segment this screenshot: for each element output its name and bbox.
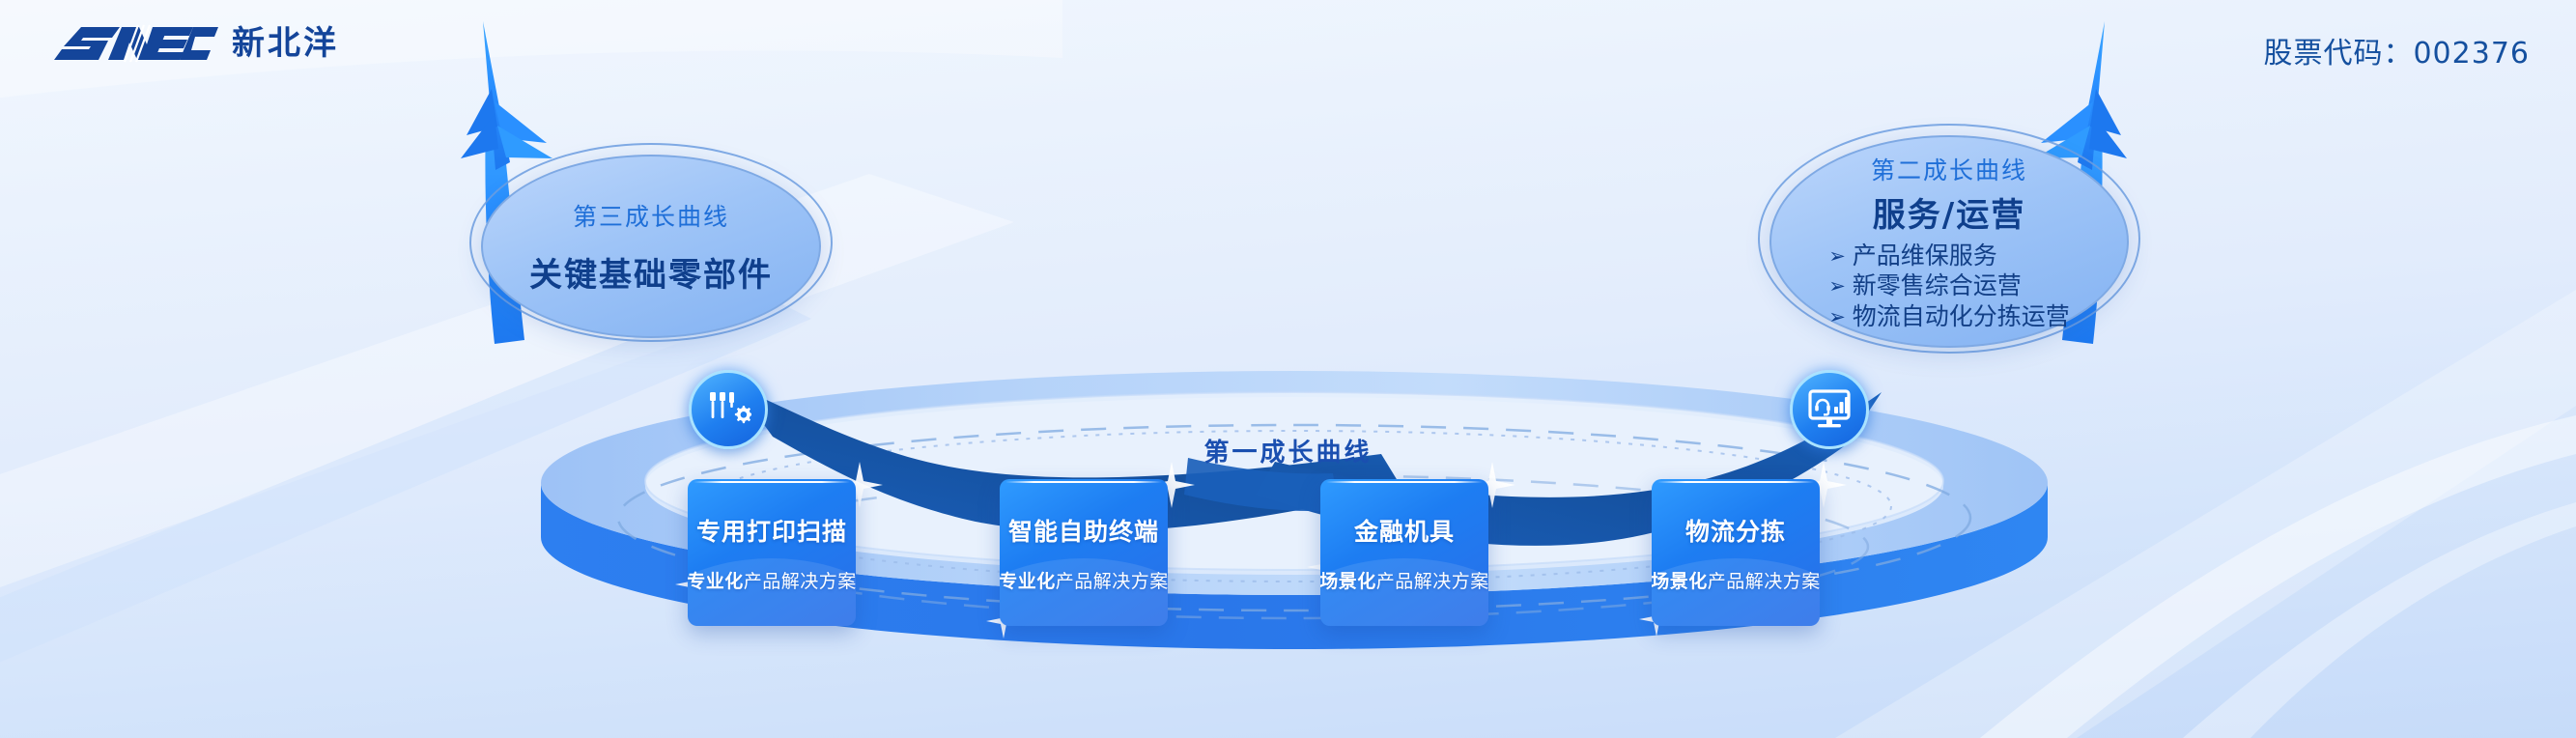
monitor-headset-chart-icon-badge[interactable]	[1790, 370, 1869, 449]
right-bubble-bullets: ➢ 产品维保服务 ➢ 新零售综合运营 ➢ 物流自动化分拣运营	[1828, 241, 2070, 332]
list-item-label: 产品维保服务	[1853, 241, 1997, 271]
card-title: 物流分拣	[1685, 513, 1786, 548]
arrow-bullet-icon: ➢	[1828, 276, 1846, 297]
card-subtitle-rest: 产品解决方案	[1056, 571, 1168, 592]
card-subtitle-emphasis: 场景化	[1652, 571, 1708, 592]
list-item: ➢ 新零售综合运营	[1828, 271, 2070, 301]
second-growth-curve-bubble[interactable]: 第二成长曲线 服务/运营 ➢ 产品维保服务 ➢ 新零售综合运营 ➢ 物流自动化分…	[1769, 135, 2129, 348]
background-decoration	[0, 0, 2576, 738]
card-title: 智能自助终端	[1008, 513, 1159, 548]
list-item-label: 新零售综合运营	[1853, 271, 2022, 301]
right-bubble-kicker: 第二成长曲线	[1871, 152, 2027, 186]
brand-name-cn: 新北洋	[232, 27, 339, 60]
product-card[interactable]: 智能自助终端 专业化产品解决方案	[1000, 479, 1168, 626]
list-item: ➢ 产品维保服务	[1828, 241, 2070, 271]
card-subtitle-rest: 产品解决方案	[1708, 571, 1820, 592]
card-title: 金融机具	[1354, 513, 1455, 548]
right-bubble-title: 服务/运营	[1873, 188, 2025, 236]
list-item-label: 物流自动化分拣运营	[1853, 302, 2070, 332]
card-subtitle: 场景化产品解决方案	[1652, 567, 1820, 593]
monitor-headset-chart-icon	[1806, 387, 1853, 432]
card-subtitle: 专业化产品解决方案	[688, 567, 856, 593]
sliders-gear-icon	[705, 386, 751, 433]
brand-logo[interactable]: 新北洋	[48, 21, 339, 66]
third-growth-curve-bubble[interactable]: 第三成长曲线 关键基础零部件	[481, 155, 821, 338]
list-item: ➢ 物流自动化分拣运营	[1828, 302, 2070, 332]
card-subtitle-rest: 产品解决方案	[1376, 571, 1488, 592]
card-subtitle-rest: 产品解决方案	[744, 571, 856, 592]
arrow-bullet-icon: ➢	[1828, 307, 1846, 327]
card-top-highlight	[1005, 481, 1162, 483]
product-card[interactable]: 物流分拣 场景化产品解决方案	[1652, 479, 1820, 626]
stock-code: 股票代码：002376	[2263, 29, 2530, 71]
card-subtitle: 场景化产品解决方案	[1320, 567, 1488, 593]
card-subtitle: 专业化产品解决方案	[1000, 567, 1168, 593]
first-growth-curve-label: 第一成长曲线	[0, 433, 2576, 468]
product-card[interactable]: 专用打印扫描 专业化产品解决方案	[688, 479, 856, 626]
card-subtitle-emphasis: 场景化	[1320, 571, 1376, 592]
left-bubble-title: 关键基础零部件	[529, 248, 773, 296]
card-subtitle-emphasis: 专业化	[1000, 571, 1056, 592]
card-title: 专用打印扫描	[696, 513, 847, 548]
arrow-bullet-icon: ➢	[1828, 246, 1846, 267]
card-subtitle-emphasis: 专业化	[688, 571, 744, 592]
card-top-highlight	[1326, 481, 1483, 483]
card-top-highlight	[1657, 481, 1814, 483]
product-card[interactable]: 金融机具 场景化产品解决方案	[1320, 479, 1488, 626]
card-top-highlight	[694, 481, 850, 483]
left-bubble-kicker: 第三成长曲线	[573, 198, 729, 233]
sliders-gear-icon-badge[interactable]	[689, 370, 768, 449]
snbc-logo-icon	[48, 21, 218, 66]
infographic-canvas: 新北洋 股票代码：002376 第一成长曲线 第三成长曲线 关键基础零部件 第二…	[0, 0, 2576, 738]
